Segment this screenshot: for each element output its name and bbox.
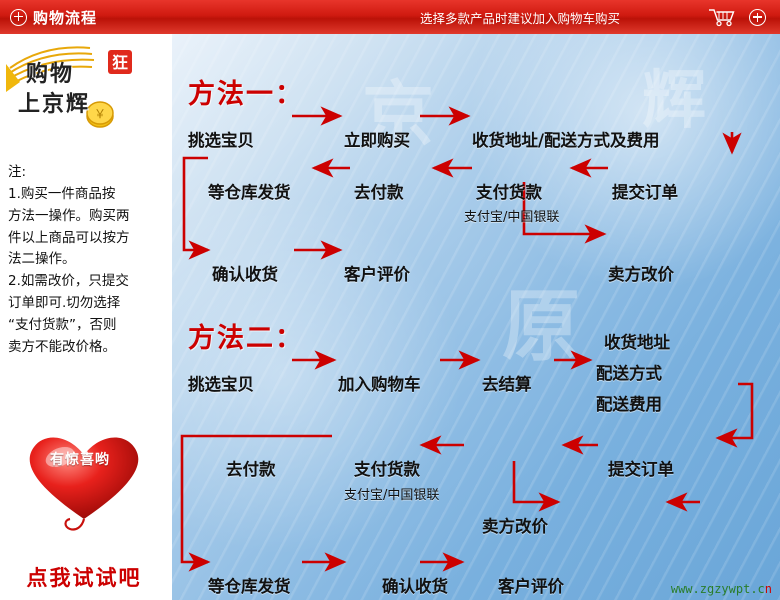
brand-logo: ￥ 狂 购物 上京辉	[4, 38, 168, 130]
plus-circle-icon	[10, 9, 27, 26]
m1-node-6: 支付货款	[476, 179, 542, 203]
m2-node-1: 挑选宝贝	[188, 371, 254, 395]
m2-node-6: 提交订单	[608, 456, 674, 480]
logo-line-1: 购物	[26, 56, 74, 88]
m2-pay-sub: 支付宝/中国银联	[344, 484, 439, 503]
note-line-4: 法二操作。	[8, 249, 168, 271]
m2-node-3: 去结算	[482, 371, 532, 395]
m1-node-9: 客户评价	[344, 261, 410, 285]
watermark-tld: n	[765, 582, 772, 596]
m2-node-branch: 卖方改价	[482, 513, 548, 537]
note-line-6: 订单即可.切勿选择	[8, 293, 168, 315]
m1-node-5: 去付款	[354, 179, 404, 203]
shopping-cart-icon	[708, 7, 738, 27]
m2-node-8: 确认收货	[382, 573, 448, 597]
note-block: 注: 1.购买一件商品按 方法一操作。购买两 件以上商品可以按方 法二操作。 2…	[8, 162, 168, 359]
site-watermark: www.zgzywpt.cn	[671, 582, 772, 596]
logo-line-2: 上京辉	[18, 86, 90, 118]
m2-node-7: 等仓库发货	[208, 573, 291, 597]
note-line-5: 2.如需改价，只提交	[8, 271, 168, 293]
note-line-1: 1.购买一件商品按	[8, 184, 168, 206]
m2-stack-2: 配送方式	[596, 360, 662, 384]
m1-node-8: 确认收货	[212, 261, 278, 285]
page-root: 购物流程 选择多款产品时建议加入购物车购买	[0, 0, 780, 600]
top-bar-left: 购物流程	[10, 0, 97, 34]
m2-stack-1: 收货地址	[604, 329, 670, 353]
m2-node-9: 客户评价	[498, 573, 564, 597]
m2-stack-3: 配送费用	[596, 391, 662, 415]
promo-heart-label: 有惊喜哟	[0, 449, 160, 469]
note-line-3: 件以上商品可以按方	[8, 228, 168, 250]
method1-title: 方法一：	[188, 72, 304, 111]
promo-heart[interactable]	[14, 419, 154, 539]
note-line-8: 卖方不能改价格。	[8, 337, 168, 359]
top-bar-title: 购物流程	[33, 7, 97, 28]
svg-text:￥: ￥	[94, 107, 106, 121]
note-line-7: “支付货款”，否则	[8, 315, 168, 337]
m1-node-7: 提交订单	[612, 179, 678, 203]
m1-node-branch: 卖方改价	[608, 261, 674, 285]
promo-cta[interactable]: 点我试试吧	[0, 562, 168, 592]
coin-icon: ￥	[87, 102, 113, 127]
plus-circle-icon-right[interactable]	[749, 9, 766, 26]
m1-node-1: 挑选宝贝	[188, 127, 254, 151]
top-bar: 购物流程 选择多款产品时建议加入购物车购买	[0, 0, 780, 34]
m1-node-4: 等仓库发货	[208, 179, 291, 203]
m1-pay-sub: 支付宝/中国银联	[464, 206, 559, 225]
note-line-2: 方法一操作。购买两	[8, 206, 168, 228]
m2-node-5: 支付货款	[354, 456, 420, 480]
m1-node-2: 立即购买	[344, 127, 410, 151]
flow-panel: 京 原 辉	[172, 34, 780, 600]
note-title: 注:	[8, 162, 168, 184]
svg-text:狂: 狂	[112, 53, 128, 72]
m2-node-2: 加入购物车	[338, 371, 421, 395]
m1-node-3: 收货地址/配送方式及费用	[472, 127, 660, 151]
top-bar-message: 选择多款产品时建议加入购物车购买	[420, 0, 620, 34]
method2-title: 方法二：	[188, 316, 304, 355]
watermark-domain: www.zgzywpt.c	[671, 582, 765, 596]
m2-node-4: 去付款	[226, 456, 276, 480]
left-sidebar: ￥ 狂 购物 上京辉 注: 1.购买一件商品按 方法一操作。购买两 件以上商品可…	[0, 34, 172, 600]
